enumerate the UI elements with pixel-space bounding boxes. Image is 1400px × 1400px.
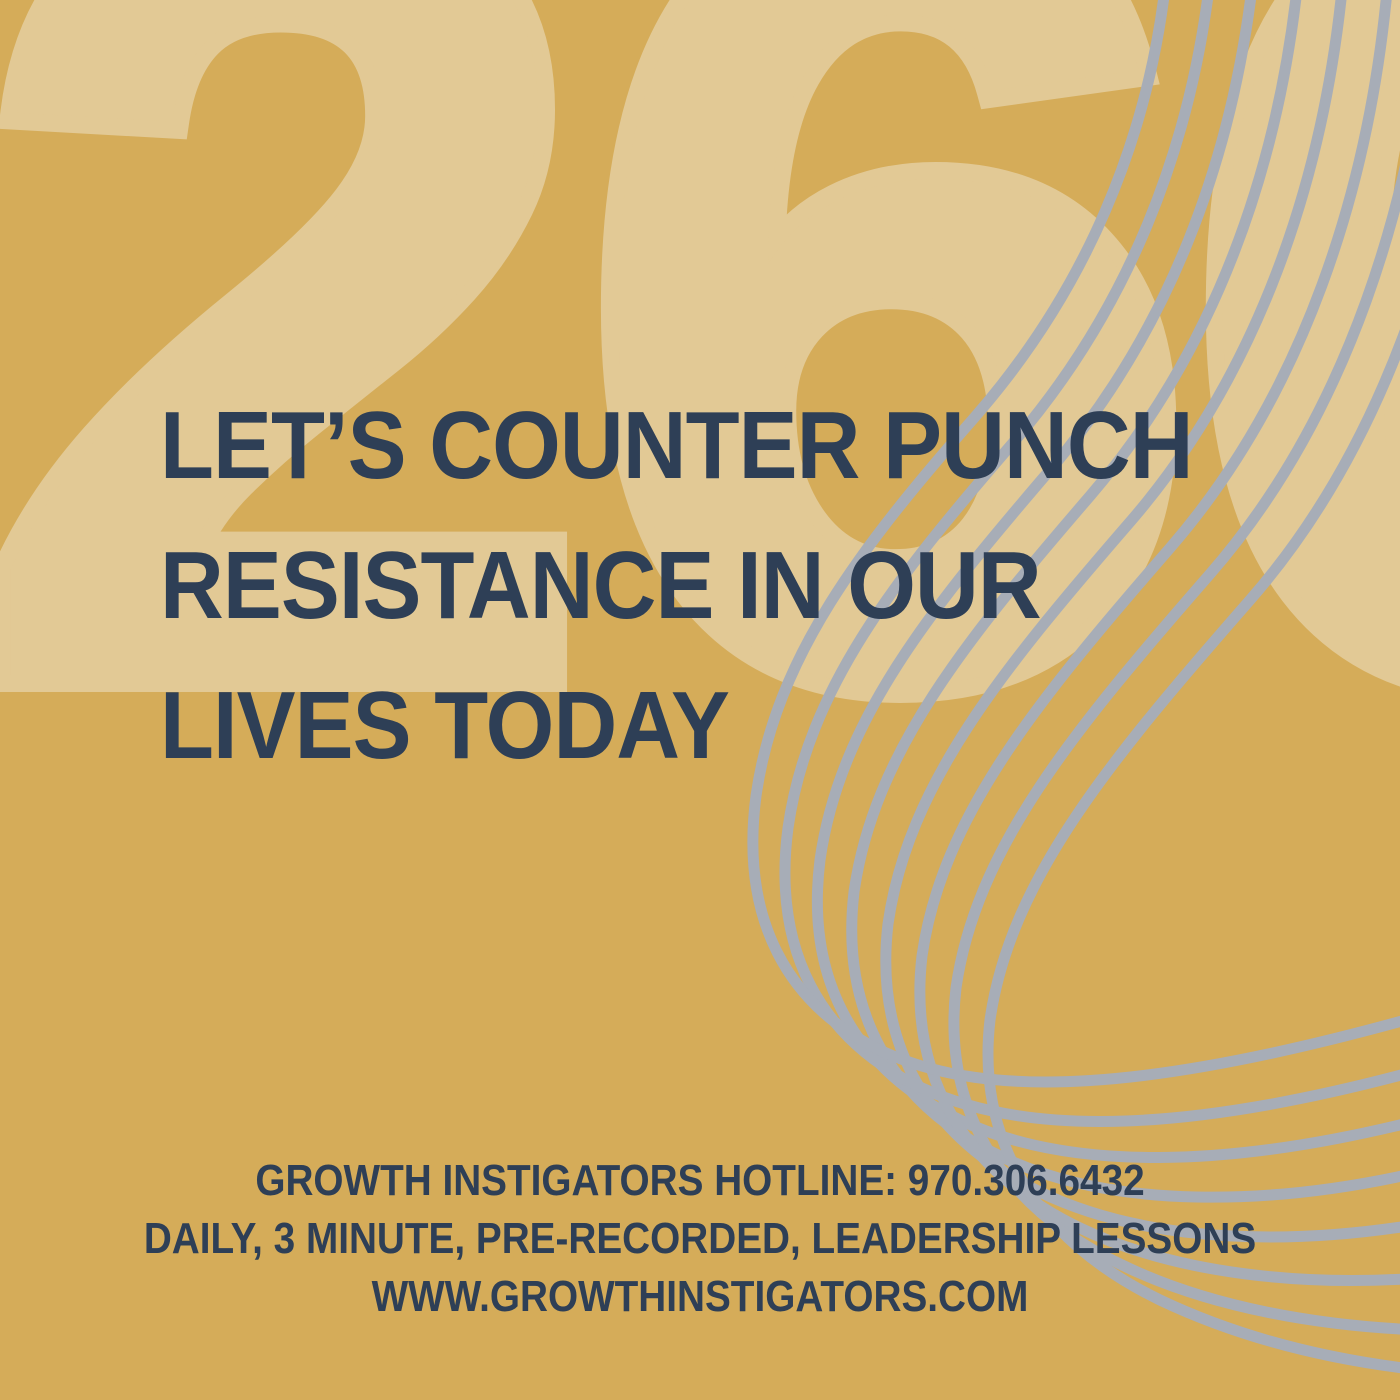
headline-line-2: RESISTANCE IN OUR — [160, 516, 1264, 656]
headline: LET’S COUNTER PUNCH RESISTANCE IN OUR LI… — [160, 376, 1360, 796]
footer-hotline: GROWTH INSTIGATORS HOTLINE: 970.306.6432 — [84, 1152, 1316, 1210]
footer-description: DAILY, 3 MINUTE, PRE-RECORDED, LEADERSHI… — [84, 1210, 1316, 1268]
headline-line-1: LET’S COUNTER PUNCH — [160, 376, 1264, 516]
headline-line-3: LIVES TODAY — [160, 656, 1264, 796]
footer-contact-block: GROWTH INSTIGATORS HOTLINE: 970.306.6432… — [0, 1152, 1400, 1326]
footer-website[interactable]: WWW.GROWTHINSTIGATORS.COM — [84, 1268, 1316, 1326]
poster-canvas: 266 LET’S COUNTER PUNCH RESISTANCE IN OU… — [0, 0, 1400, 1400]
